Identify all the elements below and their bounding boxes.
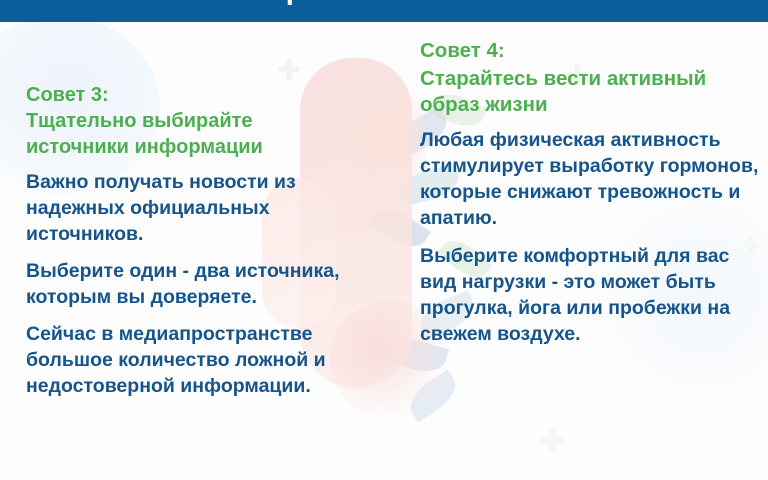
tip-3-paragraph-3: Сейчас в медиапространстве большое колич… xyxy=(26,322,356,400)
tip-3-label: Совет 3: xyxy=(26,82,356,108)
tip-4-label: Совет 4: xyxy=(420,38,765,65)
green-cross-bottom-icon xyxy=(540,428,566,454)
tip-3-paragraph-1: Важно получать новости из надежных офици… xyxy=(26,170,356,248)
tip-3-paragraph-2: Выберите один - два источника, которым в… xyxy=(26,259,356,311)
slide-canvas: с простым советов Совет 3: Тщательно выб… xyxy=(0,0,768,480)
tip-4-heading: Старайтесь вести активный образ жизни xyxy=(420,66,765,118)
green-cross-top-center-icon xyxy=(278,58,300,80)
tip-4-paragraph-1: Любая физическая активность стимулирует … xyxy=(420,128,765,232)
tip-4-paragraph-2: Выберите комфортный для вас вид нагрузки… xyxy=(420,244,765,348)
tip-column-right: Совет 4: Старайтесь вести активный образ… xyxy=(420,38,765,359)
leaf-pale-low-icon xyxy=(403,369,463,422)
tip-column-left: Совет 3: Тщательно выбирайте источники и… xyxy=(26,82,356,400)
top-banner: с простым советов xyxy=(0,0,768,22)
banner-title: с простым советов xyxy=(0,0,768,7)
tip-3-heading: Тщательно выбирайте источники информации xyxy=(26,109,356,160)
